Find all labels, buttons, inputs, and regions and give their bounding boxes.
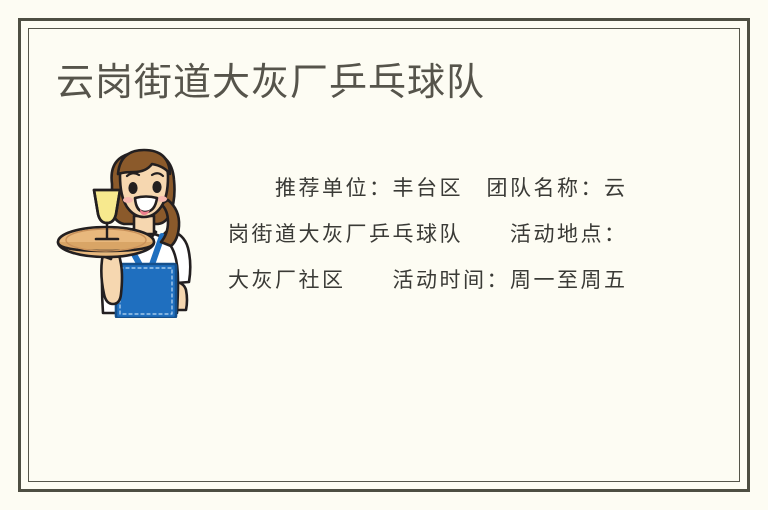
blush-right: [157, 196, 167, 202]
eye-left: [128, 182, 137, 194]
blush-left: [123, 197, 133, 203]
details-text: 推荐单位：丰台区 团队名称：云岗街道大灰厂乒乓球队 活动地点：大灰厂社区 活动时…: [228, 165, 646, 303]
waitress-icon: [52, 138, 212, 318]
mouth: [135, 197, 157, 213]
apron-body: [116, 264, 176, 318]
eye-right: [152, 181, 161, 193]
waitress-illustration: [52, 138, 212, 318]
page-title: 云岗街道大灰厂乒乓球队: [56, 60, 485, 106]
poster-page: 云岗街道大灰厂乒乓球队: [0, 0, 768, 510]
